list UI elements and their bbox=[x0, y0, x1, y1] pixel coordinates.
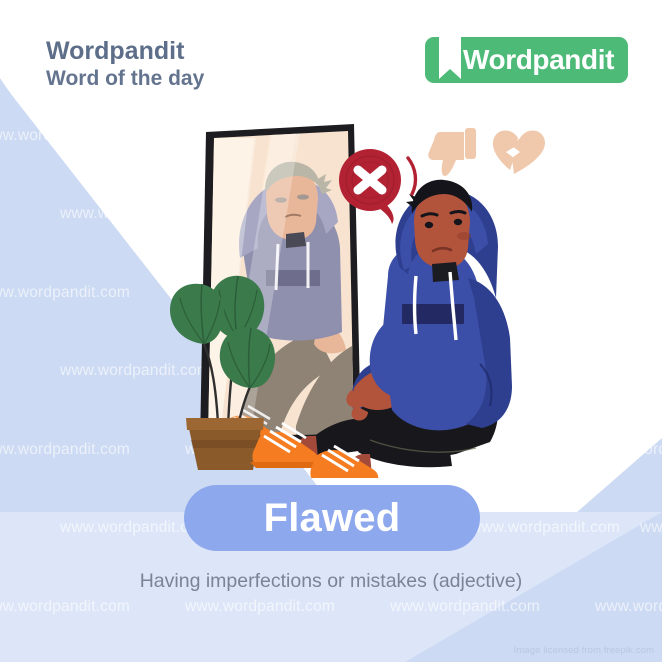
brand-name: Wordpandit bbox=[46, 38, 204, 65]
logo-text: Wordpandit bbox=[463, 44, 628, 76]
word-pill: Flawed bbox=[184, 485, 480, 551]
page-subtitle: Word of the day bbox=[46, 68, 204, 90]
page-title-block: Wordpandit Word of the day bbox=[46, 38, 204, 90]
image-credit: Image licensed from freepik.com bbox=[514, 645, 654, 656]
word-definition: Having imperfections or mistakes (adject… bbox=[0, 570, 662, 593]
wordpandit-logo[interactable]: Wordpandit bbox=[425, 37, 628, 83]
thumbs-down-icon bbox=[428, 128, 476, 176]
word-of-the-day-card: www.wordpandit.comwww.wordpandit.comwww.… bbox=[0, 0, 662, 662]
word-term: Flawed bbox=[264, 496, 401, 541]
bookmark-icon bbox=[435, 37, 465, 83]
broken-heart-icon bbox=[493, 131, 545, 175]
illustration bbox=[120, 118, 550, 478]
